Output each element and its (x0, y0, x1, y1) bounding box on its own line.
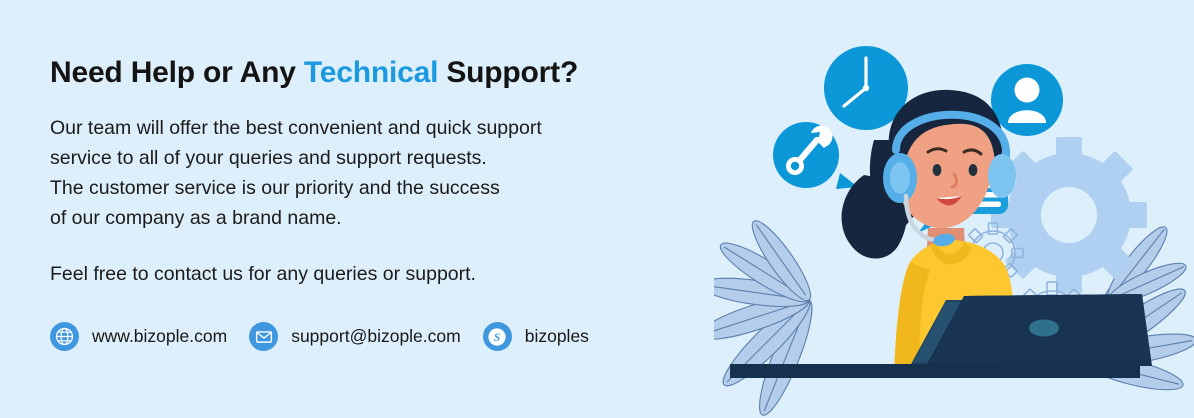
eye-right (969, 164, 978, 176)
body-paragraph: Our team will offer the best convenient … (50, 113, 750, 233)
laptop-logo (1029, 320, 1059, 337)
contact-email-label: support@bizople.com (291, 326, 461, 347)
contact-email[interactable]: support@bizople.com (249, 322, 461, 351)
svg-text:S: S (494, 332, 500, 344)
user-avatar-icon (991, 64, 1063, 136)
contact-website-label: www.bizople.com (92, 326, 227, 347)
contact-row: www.bizople.com support@bizople.com S bi… (50, 322, 611, 351)
customer-support-agent-illustration (714, 0, 1194, 418)
skype-icon: S (483, 322, 512, 351)
eye-left (933, 164, 942, 176)
headline-accent-word: Technical (304, 56, 438, 89)
cta-text: Feel free to contact us for any queries … (50, 259, 750, 289)
headset-earcup-right (988, 154, 1016, 198)
contact-skype[interactable]: S bizoples (483, 322, 589, 351)
contact-website[interactable]: www.bizople.com (50, 322, 227, 351)
body-line-2: service to all of your queries and suppo… (50, 143, 750, 173)
globe-icon (50, 322, 79, 351)
headline-part2: Support? (438, 56, 578, 89)
body-line-3: The customer service is our priority and… (50, 173, 750, 203)
banner-content: Need Help or Any Technical Support? Our … (50, 55, 750, 289)
body-line-1: Our team will offer the best convenient … (50, 113, 750, 143)
laptop (910, 294, 1152, 366)
support-banner: Need Help or Any Technical Support? Our … (0, 0, 1194, 418)
headline-part1: Need Help or Any (50, 56, 304, 89)
body-line-4: of our company as a brand name. (50, 203, 750, 233)
page-title: Need Help or Any Technical Support? (50, 55, 750, 91)
envelope-icon (249, 322, 278, 351)
leaf-plant-decoration-left (714, 215, 821, 418)
wrench-speech-bubble-icon (773, 122, 858, 189)
contact-skype-label: bizoples (525, 326, 589, 347)
desk (730, 364, 1140, 378)
